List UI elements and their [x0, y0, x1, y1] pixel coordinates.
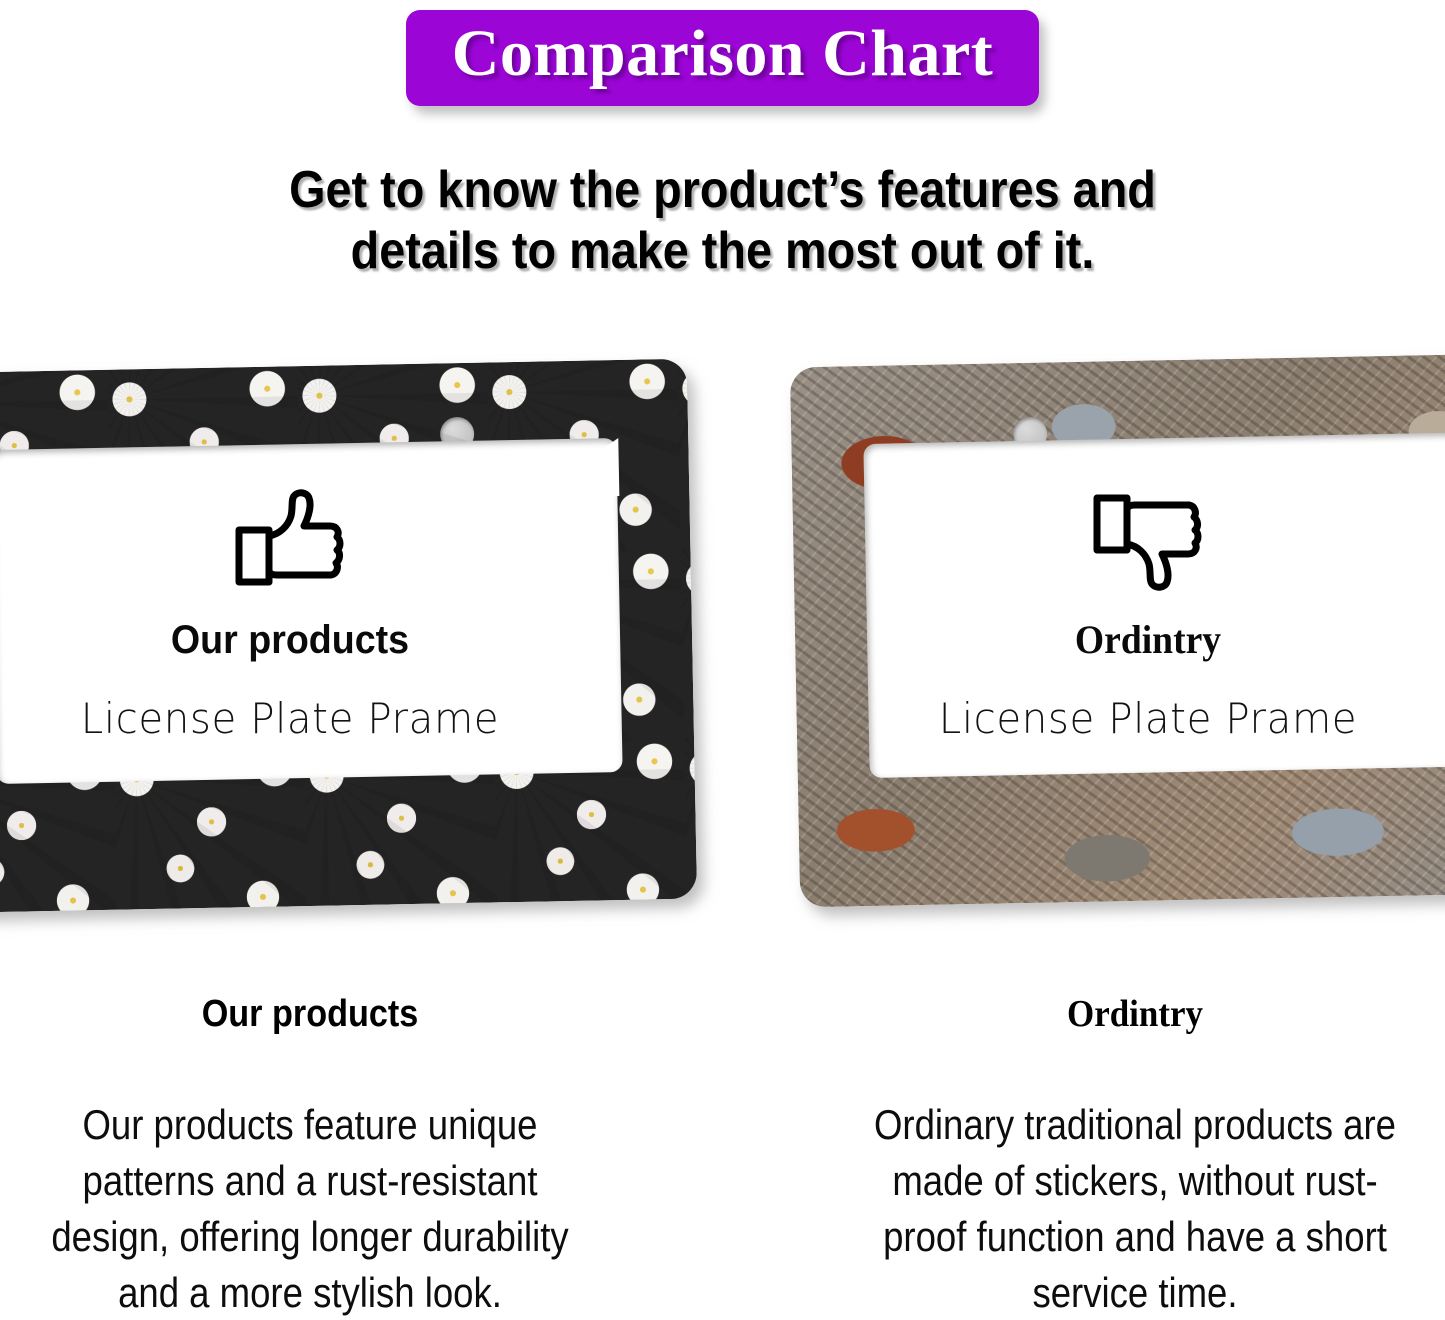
column-heading-right: Ordintry [818, 995, 1445, 1033]
inner-title-left: Our products [0, 620, 581, 660]
thumbs-up-icon [230, 488, 350, 592]
inner-title-right: Ordintry [857, 620, 1440, 660]
column-body-right: Ordinary traditional products are made o… [835, 1097, 1435, 1320]
comparison-columns: Our products Our products feature unique… [0, 995, 1445, 1315]
inner-subtitle-left: License Plate Prame [0, 694, 588, 743]
frame-inner-content-left: Our products License Plate Prame [0, 488, 600, 743]
inner-subtitle-right: License Plate Prame [850, 694, 1445, 743]
column-heading-left: Our products [0, 995, 621, 1033]
thumbs-down-icon [1088, 488, 1208, 592]
comparison-column-our-products: Our products Our products feature unique… [0, 995, 655, 1320]
plate-window-notch-right [1405, 432, 1445, 492]
column-body-left: Our products feature unique patterns and… [10, 1097, 610, 1320]
frame-inner-content-right: Ordintry License Plate Prame [838, 488, 1445, 743]
comparison-column-ordinary: Ordintry Ordinary traditional products a… [790, 995, 1445, 1320]
